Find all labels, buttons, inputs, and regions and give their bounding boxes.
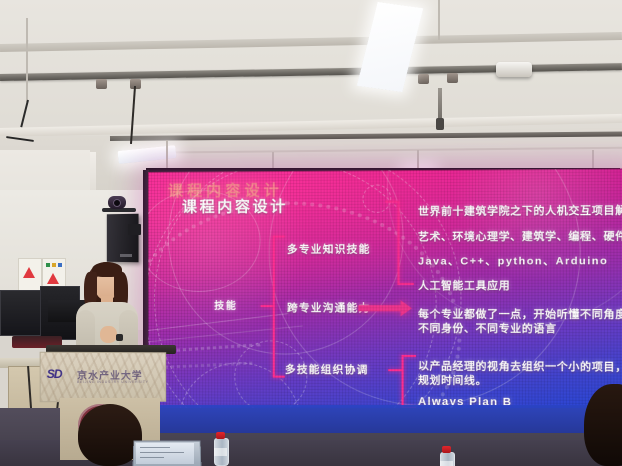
bottle-label [214, 448, 227, 456]
speaker-brand-label [120, 254, 132, 257]
podium-org-name-en: BEIJING INDUSTRY UNIVERSITY [77, 380, 149, 384]
laptop-ui-line [140, 452, 184, 453]
bracket-main-tip-top [273, 236, 285, 238]
bottle-cap [216, 432, 225, 439]
slide-right-line-1: 世界前十建筑学院之下的人机交互项目解 [418, 202, 622, 218]
slide-middle-item-3: 多技能组织协调 [285, 362, 369, 378]
slide-left-label: 技能 [214, 297, 237, 312]
slide-middle-item-1: 多专业知识技能 [287, 241, 371, 256]
wifi-access-point-icon [496, 62, 532, 77]
slide-right-line-5: 每个专业都做了一点，开始听懂不同角度、不同身份、不同专业的语言 [418, 307, 622, 336]
laptop-screen [136, 443, 194, 464]
podium-front-panel: SD 京水产业大学 BEIJING INDUSTRY UNIVERSITY [40, 352, 167, 402]
sign-chip [52, 263, 56, 267]
warning-triangle-icon [47, 273, 59, 284]
mic-hanger-rod [166, 140, 168, 168]
pipe-joint-icon [96, 79, 107, 89]
laptop-ui-line [140, 457, 164, 458]
slide-right-line-4: 人工智能工具应用 [418, 278, 510, 293]
pipe-joint-icon [418, 74, 429, 84]
bracket-group3-arm [388, 369, 402, 371]
laptop-ui-line [140, 447, 170, 448]
bracket-group1-tip-top [385, 201, 398, 203]
ceiling-drop-clamp [436, 118, 444, 130]
slide-right-line-3: Java、C++、python、Arduino [418, 253, 608, 269]
bracket-main-arm [261, 305, 275, 307]
slide-right-line-6: 以产品经理的视角去组织一个小的项目，规划时间线。 [418, 359, 622, 389]
presentation-room-photo: 课程内容设计 课程内容设计 技能 多专业知识技能 跨专业沟通能力 多技能组织协调… [0, 0, 622, 466]
sign-chip [46, 263, 50, 267]
mic-hanger-rod [417, 150, 419, 170]
arrow-shaft [358, 305, 403, 311]
bracket-group3-tip-top [402, 355, 416, 357]
led-wall-bottom-glow [148, 405, 618, 433]
bottle-label [440, 461, 453, 466]
pipe-joint-icon [447, 73, 458, 83]
bracket-group1-tip-bottom [397, 283, 413, 285]
wall-outlet-plate [128, 224, 141, 235]
sign-chip [58, 263, 62, 267]
wall-safety-sign [18, 258, 42, 292]
camera-lens-icon [113, 199, 121, 207]
podium-logo: SD [47, 367, 62, 381]
mic-hanger-rod [438, 0, 440, 40]
warning-triangle-icon [23, 267, 35, 278]
led-video-wall: 课程内容设计 课程内容设计 技能 多专业知识技能 跨专业沟通能力 多技能组织协调… [148, 168, 622, 413]
slide-right-line-2: 艺术、环境心理学、建筑学、编程、硬件 [418, 228, 622, 244]
bracket-main-tip-bottom [273, 376, 285, 378]
presenter-wristwatch [116, 334, 123, 341]
bracket-group1-vertical [397, 201, 399, 284]
presenter-hands [100, 326, 117, 343]
slide-title: 课程内容设计 [182, 195, 288, 217]
bottle-cap [442, 446, 451, 453]
mic-hanger-rod [26, 18, 28, 102]
bracket-group3-vertical [402, 355, 404, 408]
arrow-head-icon [401, 300, 412, 316]
